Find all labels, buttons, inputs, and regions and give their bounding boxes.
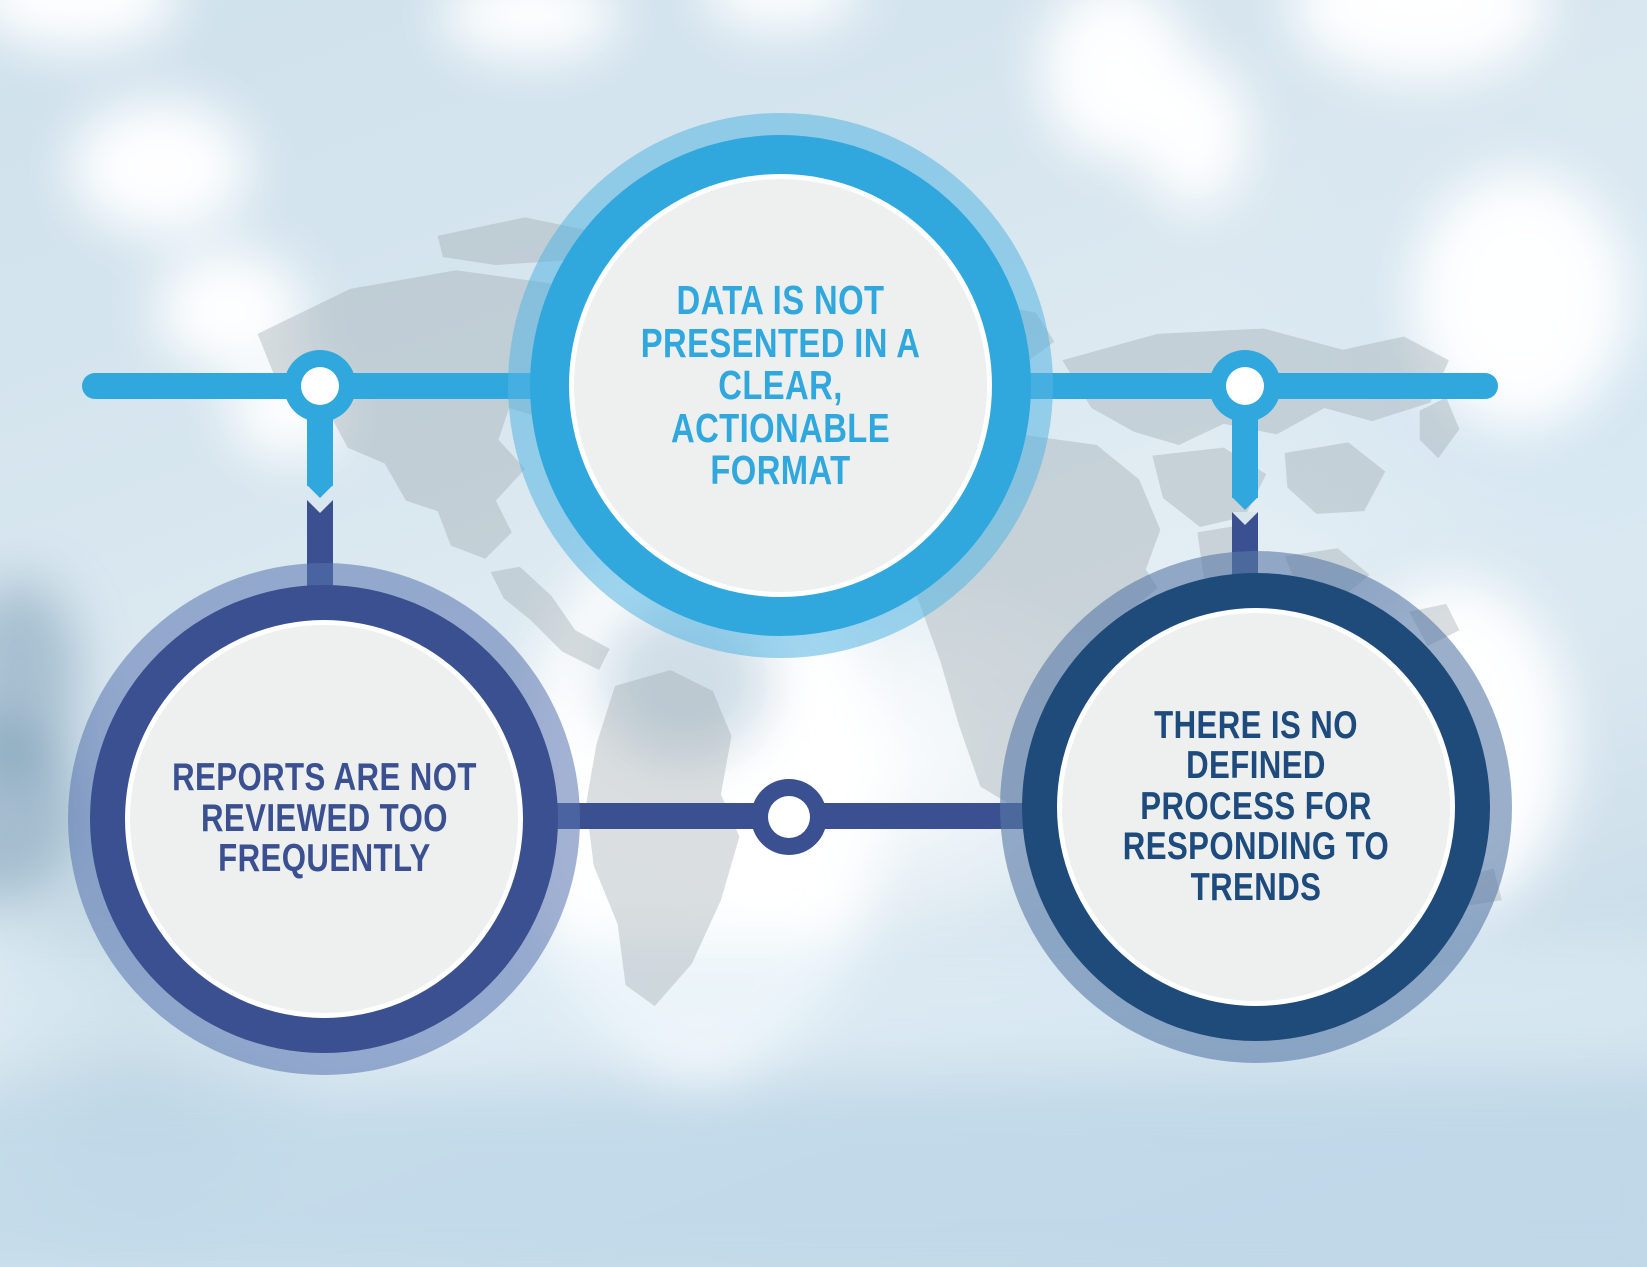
- node-bottom-left-core: REPORTS ARE NOT REVIEWED TOO FREQUENTLY: [130, 625, 518, 1013]
- node-bottom-left-label: REPORTS ARE NOT REVIEWED TOO FREQUENTLY: [172, 758, 477, 880]
- ceiling-light: [440, 0, 620, 60]
- hub-middle-center: [768, 796, 810, 838]
- infographic-canvas: DATA IS NOT PRESENTED IN A CLEAR, ACTION…: [0, 0, 1647, 1267]
- ceiling-light: [0, 0, 180, 50]
- hub-right-center: [1226, 367, 1264, 405]
- node-top-core: DATA IS NOT PRESENTED IN A CLEAR, ACTION…: [574, 179, 987, 592]
- hub-middle[interactable]: [751, 779, 827, 855]
- node-reports-not-reviewed[interactable]: REPORTS ARE NOT REVIEWED TOO FREQUENTLY: [68, 563, 580, 1075]
- node-bottom-right-core: THERE IS NO DEFINED PROCESS FOR RESPONDI…: [1062, 613, 1450, 1001]
- hub-right[interactable]: [1209, 350, 1281, 422]
- hub-left[interactable]: [284, 350, 356, 422]
- floor-band: [0, 1090, 1647, 1267]
- node-top-label: DATA IS NOT PRESENTED IN A CLEAR, ACTION…: [615, 279, 945, 492]
- ceiling-light: [700, 0, 860, 30]
- background-shadow: [0, 580, 80, 780]
- ceiling-light: [1290, 0, 1550, 80]
- hub-left-center: [301, 367, 339, 405]
- node-bottom-right-label: THERE IS NO DEFINED PROCESS FOR RESPONDI…: [1101, 706, 1411, 909]
- node-no-defined-process[interactable]: THERE IS NO DEFINED PROCESS FOR RESPONDI…: [1000, 551, 1512, 1063]
- node-data-not-presented[interactable]: DATA IS NOT PRESENTED IN A CLEAR, ACTION…: [508, 113, 1053, 658]
